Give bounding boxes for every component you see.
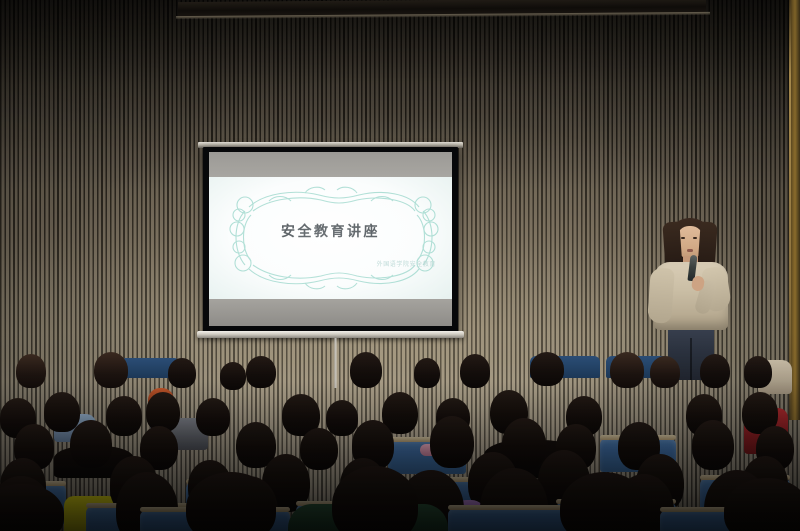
audience-row-1 <box>0 502 800 531</box>
slide-subtitle: 外国语学院安全教育 <box>377 259 436 268</box>
speaker-mouth <box>687 249 693 252</box>
audience-area <box>0 352 800 531</box>
screen-bottom-masking <box>209 299 452 326</box>
slide-content: 安全教育讲座 外国语学院安全教育 <box>209 177 452 299</box>
screen-weight-bar <box>197 331 464 338</box>
speaker-eye-left <box>681 237 685 239</box>
projected-slide: 安全教育讲座 外国语学院安全教育 <box>209 177 452 299</box>
screen-top-masking <box>209 152 452 177</box>
lecture-hall-photo: 安全教育讲座 外国语学院安全教育 <box>0 0 800 531</box>
speaker-sleeve-left <box>647 267 675 324</box>
projection-screen: 安全教育讲座 外国语学院安全教育 <box>203 147 458 343</box>
slide-title: 安全教育讲座 <box>209 221 452 241</box>
speaker-eye-right <box>693 237 697 239</box>
